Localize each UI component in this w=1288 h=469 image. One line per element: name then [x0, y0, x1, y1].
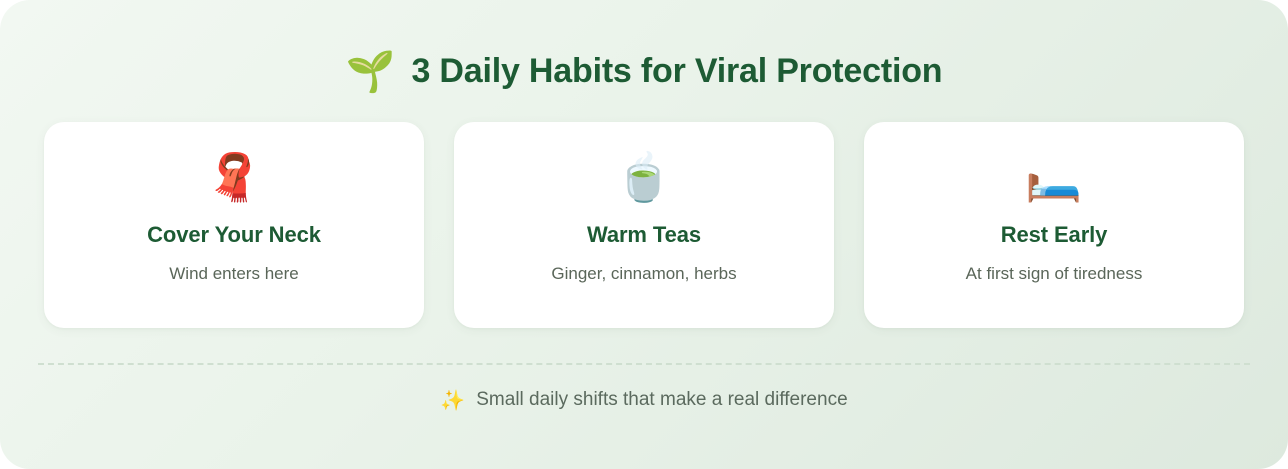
habit-card-subtitle: Wind enters here [169, 264, 298, 284]
infographic-panel: 🌱 3 Daily Habits for Viral Protection 🧣 … [0, 0, 1288, 469]
teacup-icon: 🍵 [615, 148, 672, 206]
infographic-root: 🌱 3 Daily Habits for Viral Protection 🧣 … [0, 0, 1288, 469]
habit-card-title: Rest Early [1001, 222, 1108, 248]
sparkles-icon: ✨ [440, 390, 465, 410]
habit-card-cover-your-neck[interactable]: 🧣 Cover Your Neck Wind enters here [44, 122, 424, 328]
page-title: 3 Daily Habits for Viral Protection [411, 52, 942, 91]
bed-icon: 🛏️ [1025, 148, 1082, 206]
section-divider [38, 363, 1250, 365]
footer-note-text: Small daily shifts that make a real diff… [476, 389, 847, 411]
habit-card-warm-teas[interactable]: 🍵 Warm Teas Ginger, cinnamon, herbs [454, 122, 834, 328]
habit-card-subtitle: Ginger, cinnamon, herbs [551, 264, 736, 284]
habit-card-title: Warm Teas [587, 222, 701, 248]
footer-note: ✨ Small daily shifts that make a real di… [440, 389, 847, 411]
habit-card-rest-early[interactable]: 🛏️ Rest Early At first sign of tiredness [864, 122, 1244, 328]
scarf-icon: 🧣 [205, 148, 262, 206]
habit-card-title: Cover Your Neck [147, 222, 321, 248]
habit-cards-row: 🧣 Cover Your Neck Wind enters here 🍵 War… [44, 122, 1244, 328]
header: 🌱 3 Daily Habits for Viral Protection [346, 44, 943, 98]
habit-card-subtitle: At first sign of tiredness [966, 264, 1143, 284]
seedling-icon: 🌱 [346, 52, 396, 92]
